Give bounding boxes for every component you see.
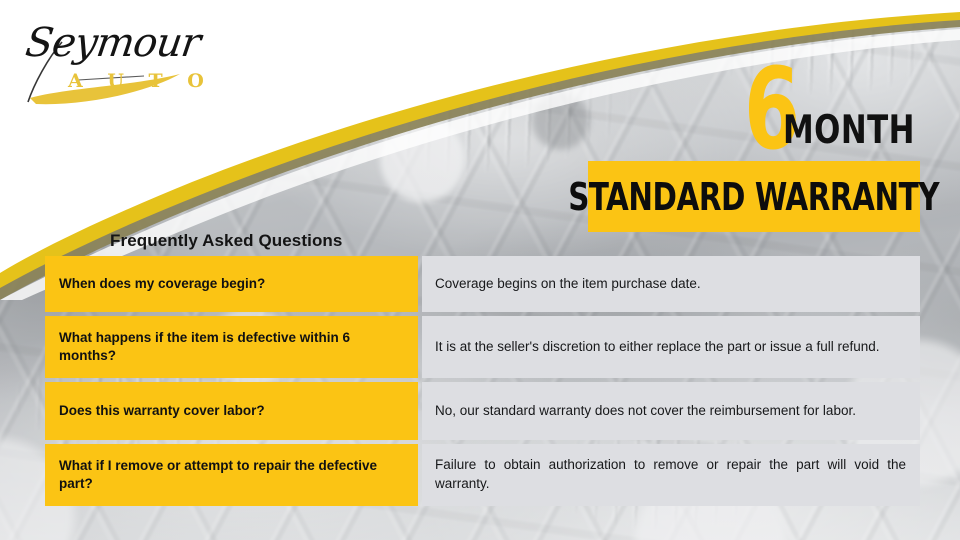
faq-section-heading: Frequently Asked Questions — [110, 231, 342, 251]
faq-answer-cell: It is at the seller's discretion to eith… — [422, 316, 920, 378]
faq-table: When does my coverage begin? Coverage be… — [45, 256, 920, 506]
faq-question-cell: When does my coverage begin? — [45, 256, 418, 312]
faq-answer-cell: Failure to obtain authorization to remov… — [422, 444, 920, 506]
standard-warranty-banner-label: STANDARD WARRANTY — [569, 175, 940, 219]
faq-question-cell: What happens if the item is defective wi… — [45, 316, 418, 378]
table-row: Does this warranty cover labor? No, our … — [45, 382, 920, 440]
seymour-auto-logo: Seymour A U T O — [22, 14, 202, 110]
logo-wordmark: Seymour — [23, 20, 203, 66]
faq-question-cell: What if I remove or attempt to repair th… — [45, 444, 418, 506]
table-row: What happens if the item is defective wi… — [45, 316, 920, 378]
warranty-duration-headline: 6 MONTH — [740, 52, 940, 156]
table-row: When does my coverage begin? Coverage be… — [45, 256, 920, 312]
faq-answer-cell: Coverage begins on the item purchase dat… — [422, 256, 920, 312]
warranty-slide: Seymour A U T O 6 MONTH STANDARD WARRANT… — [0, 0, 960, 540]
table-row: What if I remove or attempt to repair th… — [45, 444, 920, 506]
faq-answer-cell: No, our standard warranty does not cover… — [422, 382, 920, 440]
warranty-duration-unit: MONTH — [783, 111, 915, 150]
standard-warranty-banner: STANDARD WARRANTY — [588, 161, 920, 232]
logo-subtext: A U T O — [68, 70, 213, 92]
faq-question-cell: Does this warranty cover labor? — [45, 382, 418, 440]
